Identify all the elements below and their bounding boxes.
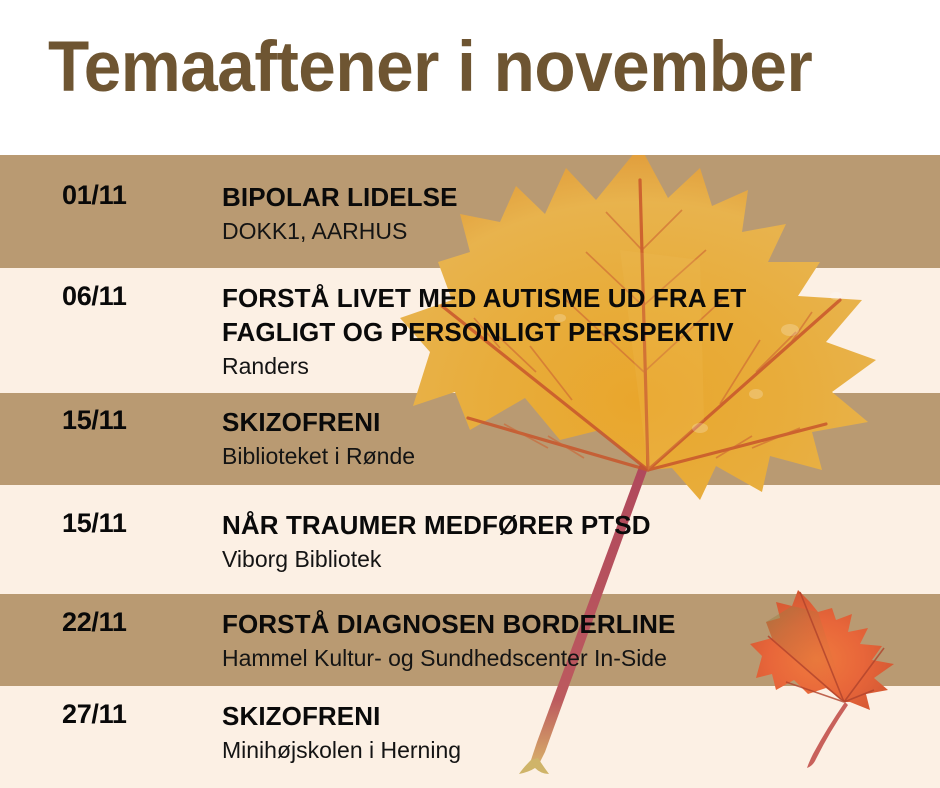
event-date: 15/11	[62, 405, 212, 436]
event-venue: Minihøjskolen i Herning	[222, 735, 922, 765]
event-title-line: BIPOLAR LIDELSE	[222, 180, 922, 214]
event-body: SKIZOFRENIBiblioteket i Rønde	[222, 405, 922, 471]
event-body: BIPOLAR LIDELSEDOKK1, AARHUS	[222, 180, 922, 246]
poster-canvas: Temaaftener i november 01/11BIPOLAR LIDE…	[0, 0, 940, 788]
event-body: SKIZOFRENIMinihøjskolen i Herning	[222, 699, 922, 765]
event-venue: Viborg Bibliotek	[222, 544, 922, 574]
event-body: FORSTÅ LIVET MED AUTISME UD FRA ETFAGLIG…	[222, 281, 922, 381]
event-body: NÅR TRAUMER MEDFØRER PTSDViborg Bibliote…	[222, 508, 922, 574]
event-venue: DOKK1, AARHUS	[222, 216, 922, 246]
event-venue: Biblioteket i Rønde	[222, 441, 922, 471]
event-date: 22/11	[62, 607, 212, 638]
page-title: Temaaftener i november	[48, 28, 812, 108]
header-band: Temaaftener i november	[0, 0, 940, 155]
event-title-line: SKIZOFRENI	[222, 699, 922, 733]
event-date: 27/11	[62, 699, 212, 730]
event-title-line: FAGLIGT OG PERSONLIGT PERSPEKTIV	[222, 315, 922, 349]
event-title-line: FORSTÅ LIVET MED AUTISME UD FRA ET	[222, 281, 922, 315]
event-venue: Hammel Kultur- og Sundhedscenter In-Side	[222, 643, 922, 673]
event-date: 01/11	[62, 180, 212, 211]
event-title-line: SKIZOFRENI	[222, 405, 922, 439]
event-title-line: FORSTÅ DIAGNOSEN BORDERLINE	[222, 607, 922, 641]
event-date: 06/11	[62, 281, 212, 312]
event-venue: Randers	[222, 351, 922, 381]
event-body: FORSTÅ DIAGNOSEN BORDERLINEHammel Kultur…	[222, 607, 922, 673]
event-title-line: NÅR TRAUMER MEDFØRER PTSD	[222, 508, 922, 542]
event-date: 15/11	[62, 508, 212, 539]
